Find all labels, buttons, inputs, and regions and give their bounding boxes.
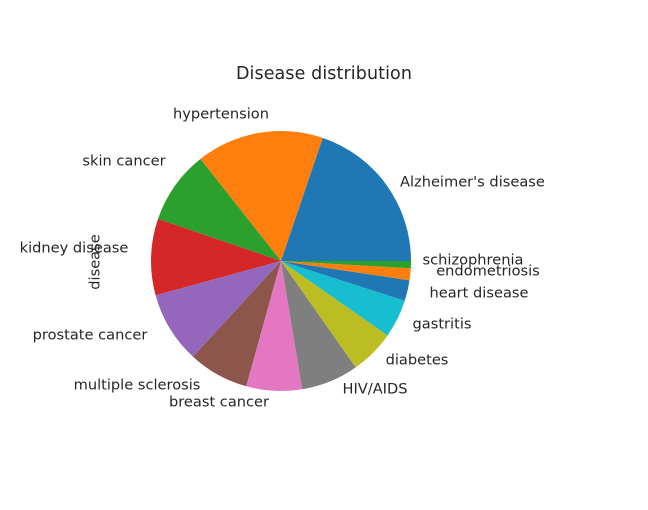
pie-slice-label: Alzheimer's disease: [400, 176, 545, 191]
pie-slice-label: HIV/AIDS: [343, 383, 408, 398]
pie-slice-label: multiple sclerosis: [74, 379, 201, 394]
pie-slice-label: kidney disease: [20, 242, 129, 257]
pie-slice-label: heart disease: [430, 287, 529, 302]
pie-slice-label: diabetes: [386, 354, 449, 369]
figure-canvas: Disease distribution Alzheimer's disease…: [0, 0, 648, 510]
pie-slice-label: prostate cancer: [33, 329, 148, 344]
pie-slice-label: gastritis: [413, 318, 472, 333]
pie-slice-label: schizophrenia: [423, 254, 524, 269]
pie-slice-label: hypertension: [173, 108, 269, 123]
pie-slice-label: breast cancer: [169, 396, 269, 411]
pie-slices: [151, 131, 411, 391]
axis-label-y: disease: [89, 234, 104, 289]
pie-slice-label: skin cancer: [82, 155, 165, 170]
